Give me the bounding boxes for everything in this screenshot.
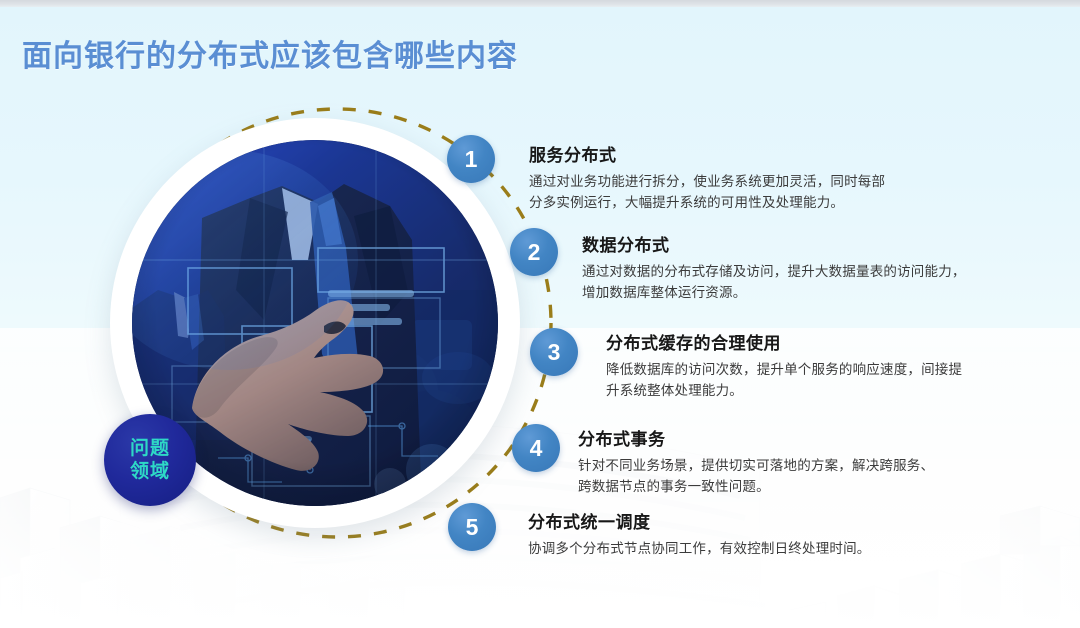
item-heading-1: 服务分布式 xyxy=(529,141,959,166)
item-body-5: 协调多个分布式节点协同工作，有效控制日终处理时间。 xyxy=(528,538,958,559)
problem-domain-badge: 问题 领域 xyxy=(104,414,196,506)
page-title: 面向银行的分布式应该包含哪些内容 xyxy=(22,31,518,75)
top-window-strip xyxy=(0,0,1080,7)
problem-domain-line1: 问题 xyxy=(130,437,170,460)
item-body-1: 通过对业务功能进行拆分，使业务系统更加灵活，同时每部 分多实例运行，大幅提升系统… xyxy=(529,171,959,213)
item-number-4[interactable]: 4 xyxy=(512,424,560,472)
item-heading-2: 数据分布式 xyxy=(582,231,1002,256)
item-body-4: 针对不同业务场景，提供切实可落地的方案，解决跨服务、 跨数据节点的事务一致性问题… xyxy=(578,455,998,497)
item-body-3: 降低数据库的访问次数，提升单个服务的响应速度，间接提 升系统整体处理能力。 xyxy=(606,359,1006,401)
slide-canvas: 面向银行的分布式应该包含哪些内容 xyxy=(0,0,1080,628)
item-heading-5: 分布式统一调度 xyxy=(528,508,958,533)
item-text-3: 分布式缓存的合理使用 降低数据库的访问次数，提升单个服务的响应速度，间接提 升系… xyxy=(606,329,1006,401)
item-heading-3: 分布式缓存的合理使用 xyxy=(606,329,1006,354)
item-heading-4: 分布式事务 xyxy=(578,425,998,450)
item-number-5[interactable]: 5 xyxy=(448,503,496,551)
item-body-2: 通过对数据的分布式存储及访问，提升大数据量表的访问能力， 增加数据库整体运行资源… xyxy=(582,261,1002,303)
item-text-2: 数据分布式 通过对数据的分布式存储及访问，提升大数据量表的访问能力， 增加数据库… xyxy=(582,231,1002,303)
item-number-3[interactable]: 3 xyxy=(530,328,578,376)
item-text-1: 服务分布式 通过对业务功能进行拆分，使业务系统更加灵活，同时每部 分多实例运行，… xyxy=(529,141,959,213)
item-number-1[interactable]: 1 xyxy=(447,135,495,183)
item-number-2[interactable]: 2 xyxy=(510,228,558,276)
item-text-4: 分布式事务 针对不同业务场景，提供切实可落地的方案，解决跨服务、 跨数据节点的事… xyxy=(578,425,998,497)
item-text-5: 分布式统一调度 协调多个分布式节点协同工作，有效控制日终处理时间。 xyxy=(528,508,958,559)
problem-domain-line2: 领域 xyxy=(130,460,170,483)
